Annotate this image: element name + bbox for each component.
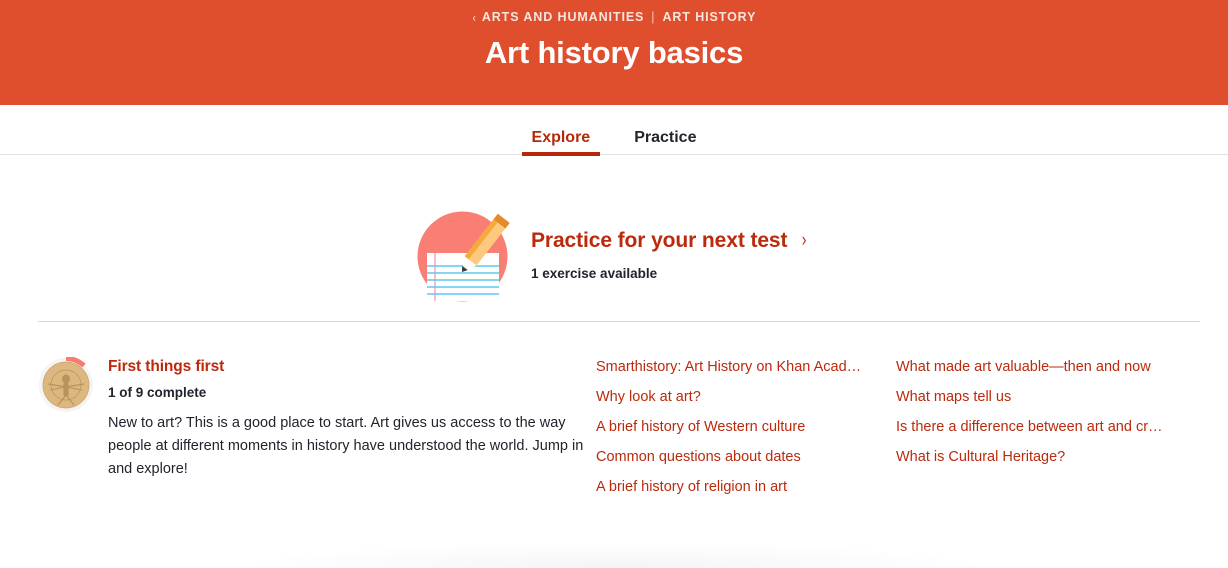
chevron-right-icon: ›: [802, 227, 807, 254]
content-link[interactable]: Smarthistory: Art History on Khan Acad…: [596, 357, 896, 377]
page-title: Art history basics: [485, 34, 743, 72]
tab-bar: Explore Practice: [0, 105, 1228, 155]
content-link-column-2: What made art valuable—then and now What…: [896, 353, 1186, 507]
content-link[interactable]: Common questions about dates: [596, 447, 896, 467]
unit-progress-text: 1 of 9 complete: [108, 384, 588, 402]
page-bottom-shadow: [240, 542, 988, 568]
vitruvian-man-avatar[interactable]: [38, 357, 94, 413]
content-link[interactable]: A brief history of religion in art: [596, 477, 896, 497]
chevron-left-icon[interactable]: ‹: [472, 9, 476, 26]
unit-first-things-first: First things first 1 of 9 complete New t…: [0, 353, 596, 507]
practice-promo-title: Practice for your next test: [531, 227, 787, 254]
content-link[interactable]: What maps tell us: [896, 387, 1186, 407]
content-link[interactable]: A brief history of Western culture: [596, 417, 896, 437]
unit-body: First things first 1 of 9 complete New t…: [108, 353, 588, 507]
breadcrumb-parent-link[interactable]: ARTS AND HUMANITIES: [482, 9, 644, 26]
breadcrumb: ‹ ARTS AND HUMANITIES | ART HISTORY: [472, 9, 757, 26]
practice-promo-link[interactable]: Practice for your next test ›: [531, 227, 808, 254]
breadcrumb-current-link[interactable]: ART HISTORY: [662, 9, 756, 26]
course-header: ‹ ARTS AND HUMANITIES | ART HISTORY Art …: [0, 0, 1228, 105]
content-link[interactable]: What is Cultural Heritage?: [896, 447, 1186, 467]
content-link[interactable]: Why look at art?: [596, 387, 896, 407]
content-link[interactable]: Is there a difference between art and cr…: [896, 417, 1186, 437]
practice-promo-text: Practice for your next test › 1 exercise…: [531, 227, 808, 287]
notepad-pencil-icon: [414, 208, 511, 305]
tab-practice[interactable]: Practice: [624, 105, 706, 155]
unit-title-link[interactable]: First things first: [108, 357, 588, 377]
practice-promo[interactable]: Practice for your next test › 1 exercise…: [414, 155, 1228, 310]
unit-description: New to art? This is a good place to star…: [108, 412, 588, 481]
practice-exercise-count: 1 exercise available: [531, 265, 808, 283]
tab-explore[interactable]: Explore: [522, 105, 601, 155]
content-link-column-1: Smarthistory: Art History on Khan Acad… …: [596, 353, 896, 507]
content-link[interactable]: What made art valuable—then and now: [896, 357, 1186, 377]
breadcrumb-separator: |: [651, 9, 655, 26]
unit-section: First things first 1 of 9 complete New t…: [0, 322, 1228, 507]
